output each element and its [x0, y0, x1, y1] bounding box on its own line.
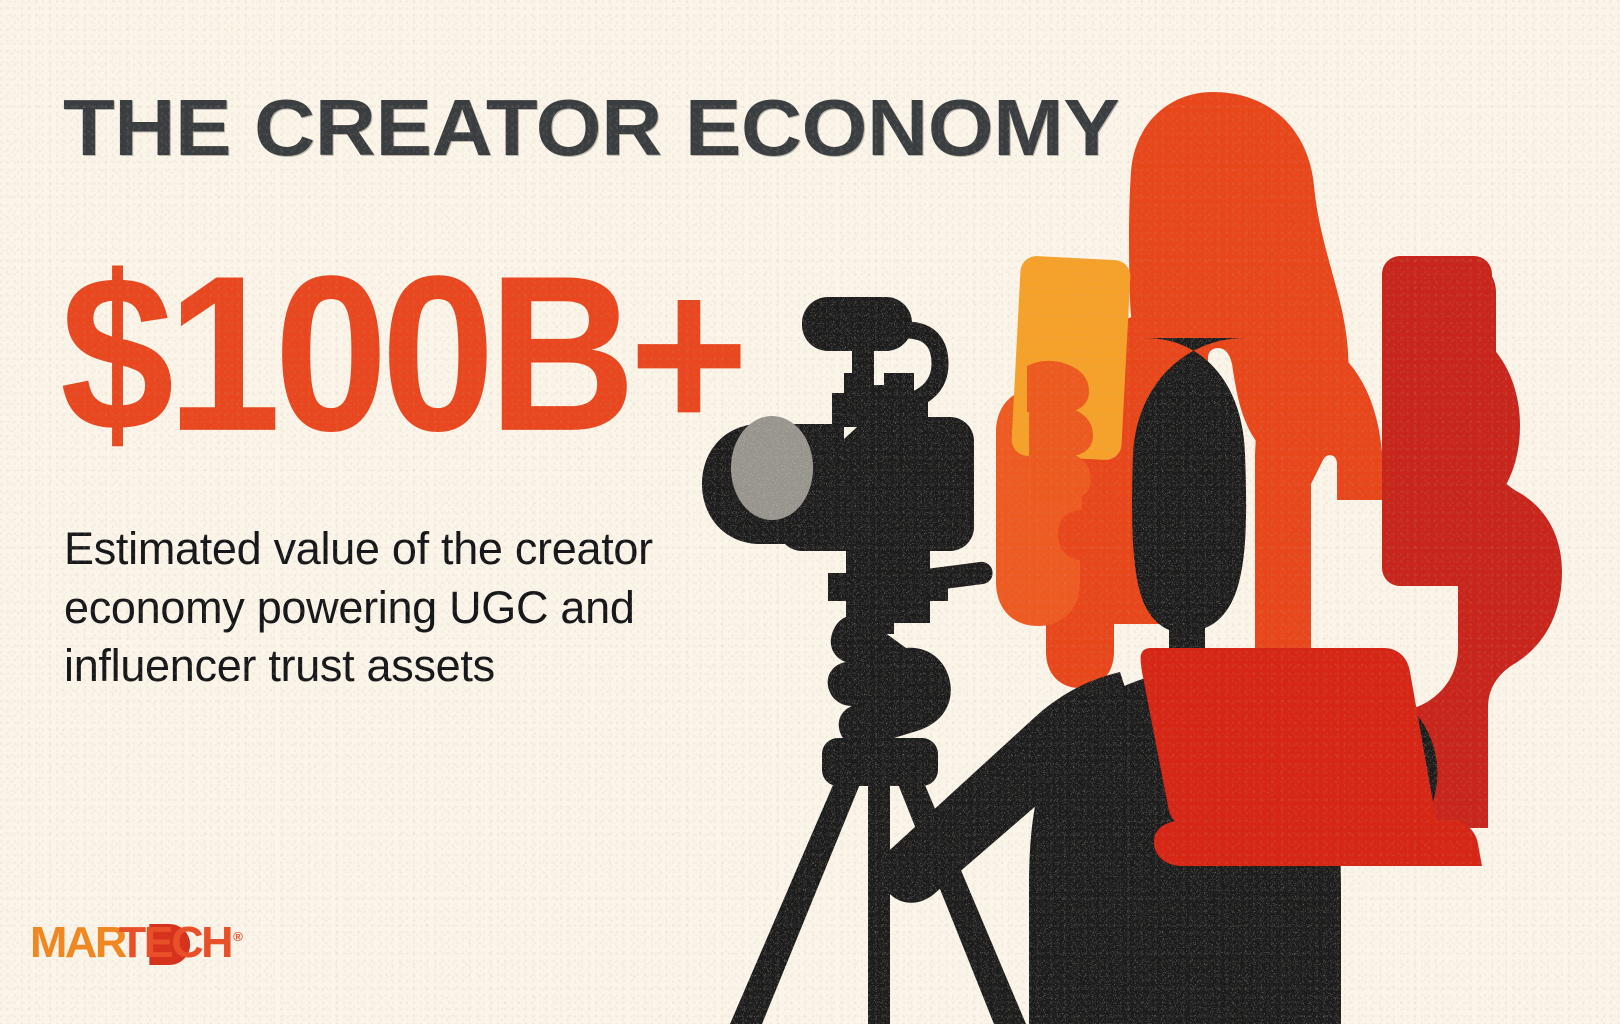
logo-trademark: ®: [233, 929, 243, 944]
logo-part-two: TECH: [119, 918, 231, 967]
logo-part-one: MAR: [30, 918, 125, 967]
page-title: THE CREATOR ECONOMY: [63, 88, 1119, 168]
headline-stat-value: $100B+: [60, 243, 742, 464]
headline-stat-description: Estimated value of the creator economy p…: [64, 520, 744, 696]
infographic-poster: THE CREATOR ECONOMY $100B+ Estimated val…: [0, 0, 1620, 1024]
text-column: THE CREATOR ECONOMY $100B+ Estimated val…: [63, 0, 823, 1024]
martech-logo[interactable]: MARTECH®: [30, 921, 243, 965]
